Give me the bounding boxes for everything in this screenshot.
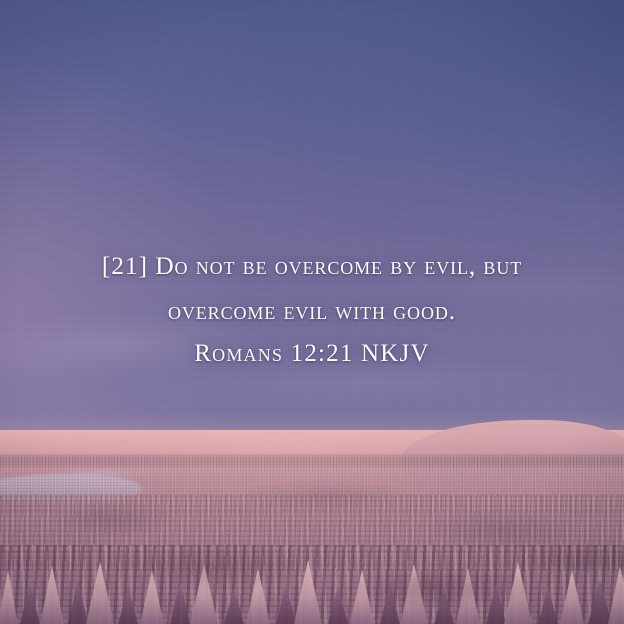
cloud-wisp-center [149,344,570,423]
cloud-wisp-upper-right [379,245,624,325]
scripture-image: [21] Do not be overcome by evil, but ove… [0,0,624,624]
conifer-crowns [0,540,624,624]
